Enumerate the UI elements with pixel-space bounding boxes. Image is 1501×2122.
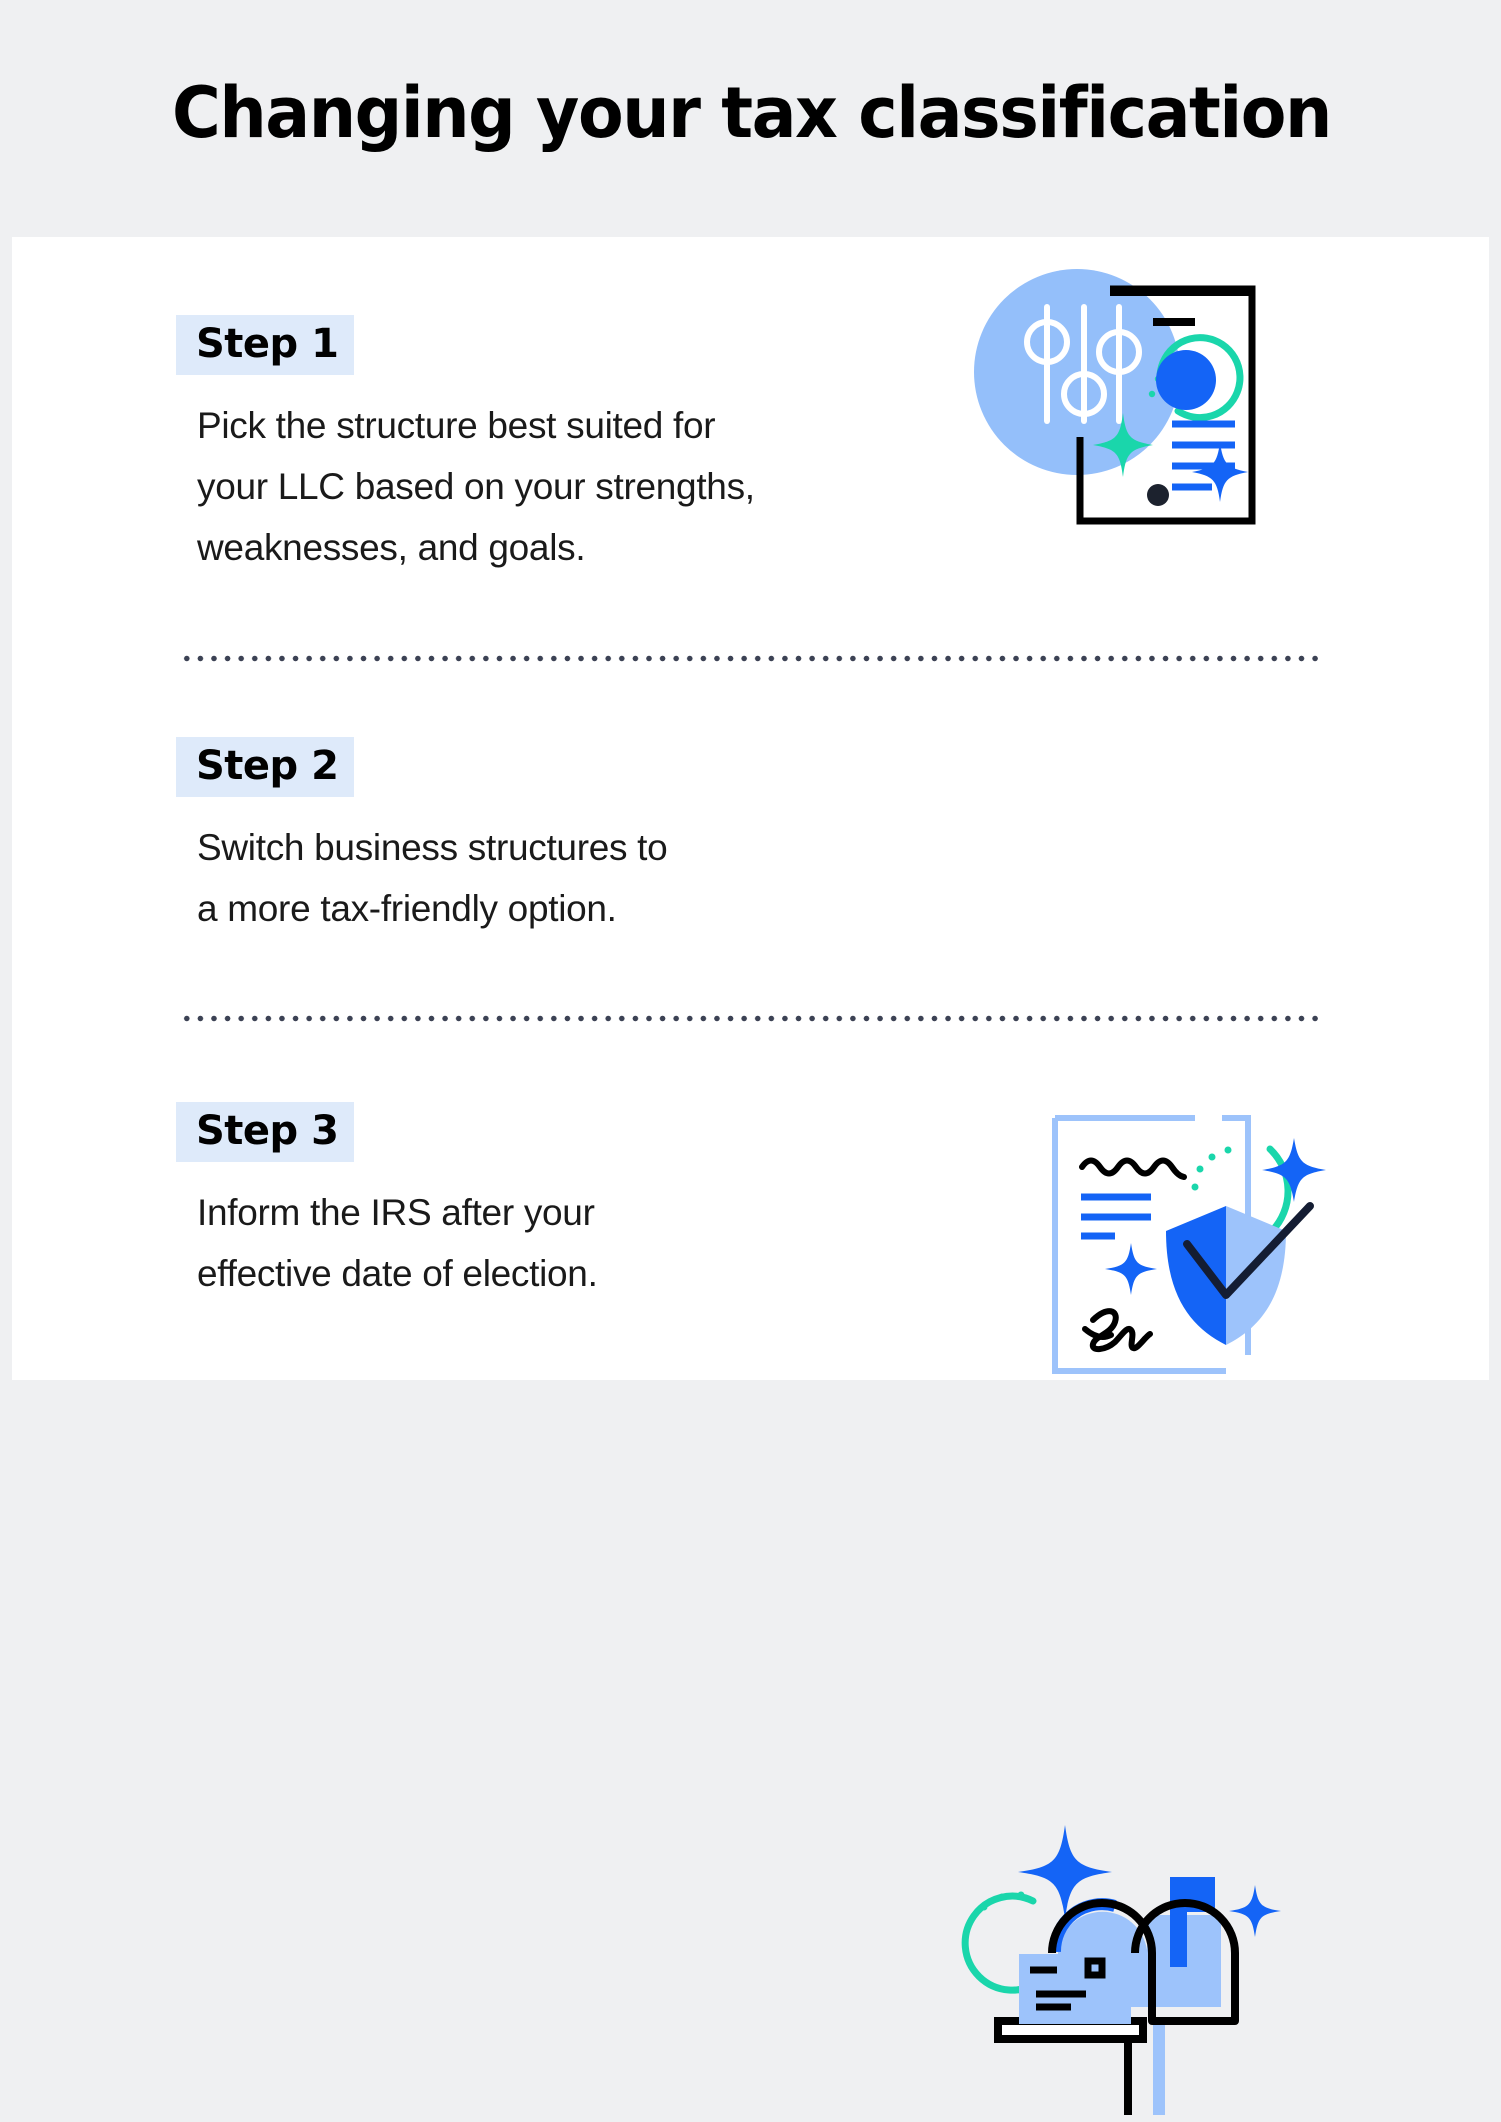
step-3-text-block: Step 3 Inform the IRS after your effecti… bbox=[176, 1102, 876, 1304]
step-1-badge: Step 1 bbox=[176, 315, 354, 375]
mailbox-envelope-icon bbox=[957, 1817, 1302, 2117]
infographic-poster: Changing your tax classification Step 1 … bbox=[0, 0, 1501, 1393]
step-3-badge: Step 3 bbox=[176, 1102, 354, 1162]
content-card: Step 1 Pick the structure best suited fo… bbox=[12, 237, 1489, 1380]
step-1-text-block: Step 1 Pick the structure best suited fo… bbox=[176, 315, 876, 578]
step-2-badge: Step 2 bbox=[176, 737, 354, 797]
page-title: Changing your tax classification bbox=[172, 72, 1331, 154]
sliders-document-icon bbox=[967, 259, 1287, 539]
step-2-text-block: Step 2 Switch business structures to a m… bbox=[176, 737, 876, 939]
step-item-2: Step 2 Switch business structures to a m… bbox=[12, 657, 1489, 1017]
header-band: Changing your tax classification bbox=[0, 0, 1501, 237]
step-3-description: Inform the IRS after your effective date… bbox=[197, 1182, 876, 1304]
step-item-1: Step 1 Pick the structure best suited fo… bbox=[12, 237, 1489, 657]
step-2-description: Switch business structures to a more tax… bbox=[197, 817, 876, 939]
step-item-3: Step 3 Inform the IRS after your effecti… bbox=[12, 1017, 1489, 1380]
step-1-description: Pick the structure best suited for your … bbox=[197, 395, 876, 578]
